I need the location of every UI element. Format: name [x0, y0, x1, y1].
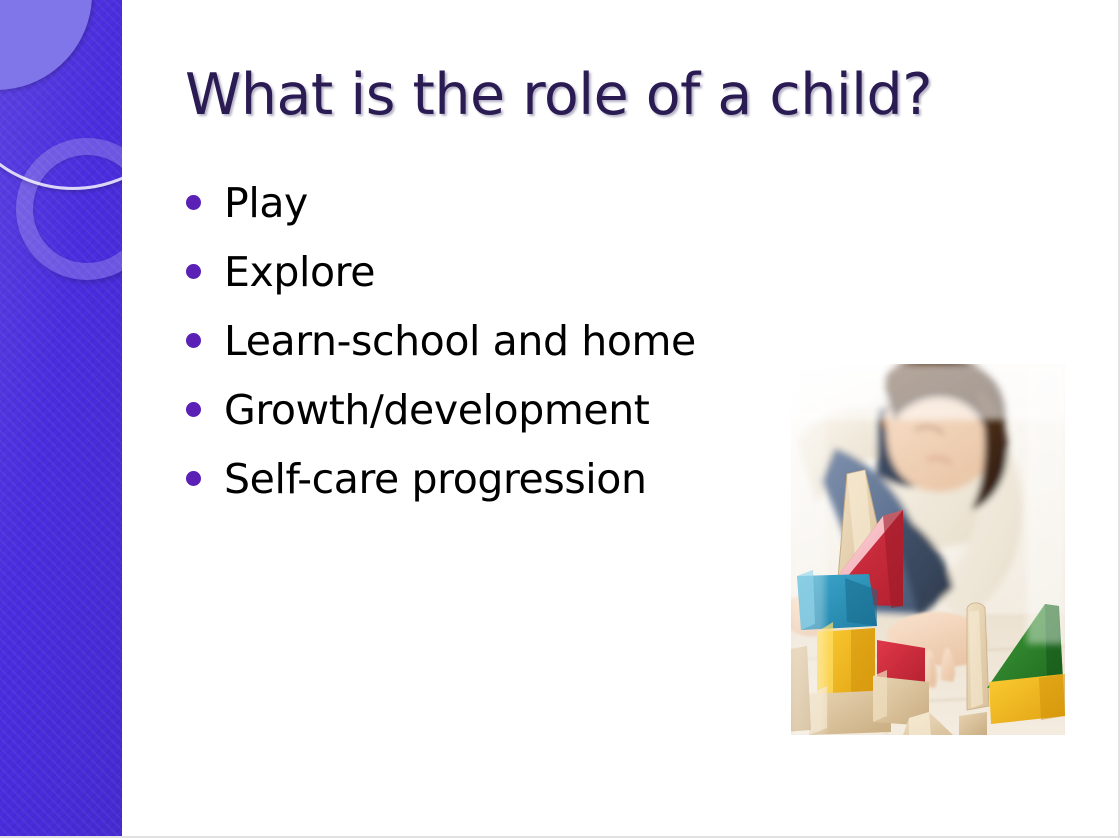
list-item: Growth/development [186, 390, 806, 459]
photo-illustration [791, 364, 1065, 735]
bullet-dot-icon [186, 333, 201, 348]
list-item: Play [186, 183, 806, 252]
bullet-label: Growth/development [224, 390, 649, 431]
slide-bullet-list: Play Explore Learn-school and home Growt… [186, 183, 806, 528]
bullet-dot-icon [186, 195, 201, 210]
bullet-dot-icon [186, 264, 201, 279]
bullet-dot-icon [186, 471, 201, 486]
bullet-label: Self-care progression [224, 459, 647, 500]
bullet-label: Learn-school and home [224, 321, 696, 362]
decorative-arc-shape [0, 0, 122, 190]
bullet-dot-icon [186, 402, 201, 417]
list-item: Self-care progression [186, 459, 806, 528]
slide-title: What is the role of a child? [185, 64, 1065, 127]
slide-decorative-sidebar [0, 0, 122, 838]
list-item: Learn-school and home [186, 321, 806, 390]
bullet-label: Play [224, 183, 308, 224]
presentation-slide: What is the role of a child? Play Explor… [0, 0, 1120, 838]
bullet-label: Explore [224, 252, 375, 293]
child-playing-blocks-photo [791, 364, 1065, 735]
list-item: Explore [186, 252, 806, 321]
